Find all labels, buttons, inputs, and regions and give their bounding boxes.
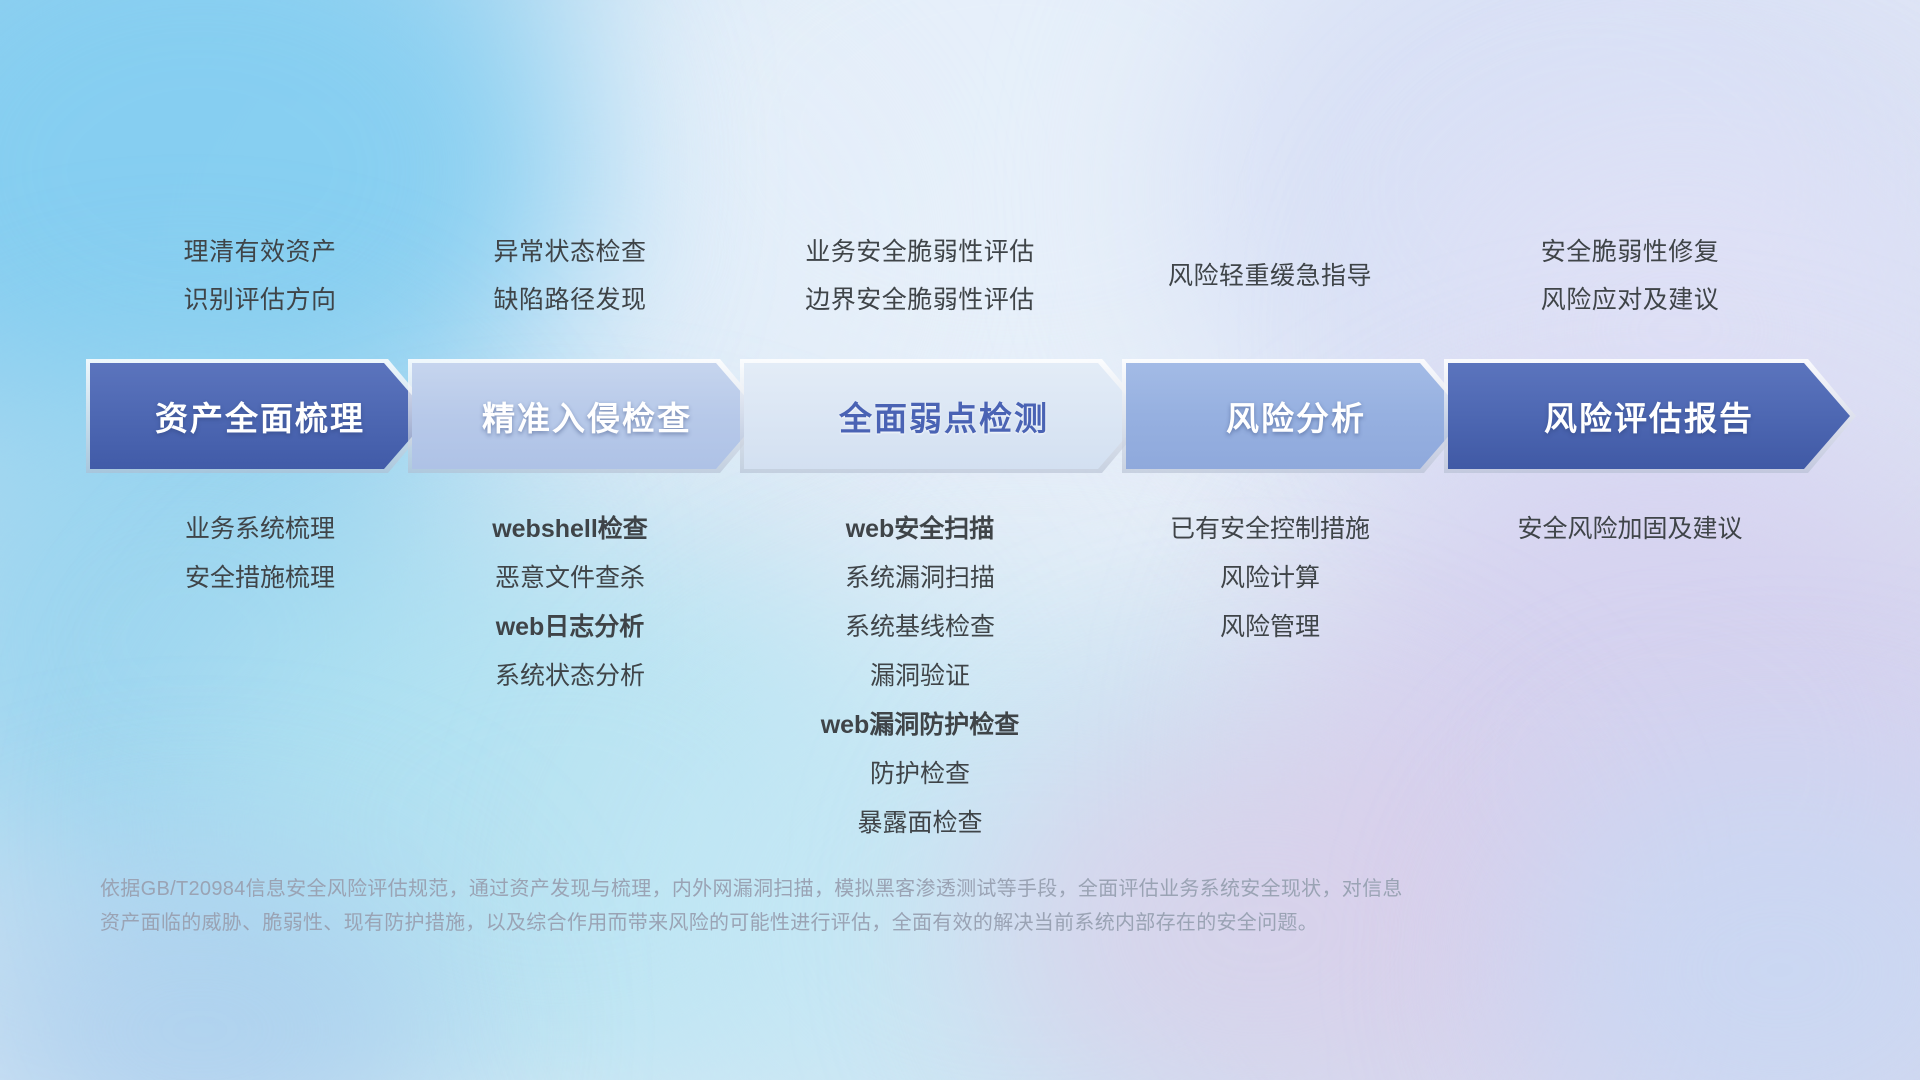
bottom-caption-line: 业务系统梳理 — [90, 505, 430, 554]
stage-chevron-1[interactable]: 资产全面梳理 — [90, 363, 430, 469]
footer-line-1: 依据GB/T20984信息安全风险评估规范，通过资产发现与梳理，内外网漏洞扫描，… — [100, 872, 1620, 906]
stage-chevron-label: 资产全面梳理 — [155, 392, 365, 440]
top-caption-line: 安全脆弱性修复 — [1410, 228, 1850, 276]
top-caption-row: 理清有效资产 识别评估方向 异常状态检查 缺陷路径发现 业务安全脆弱性评估 边界… — [0, 228, 1920, 348]
bottom-caption-stage-5: 安全风险加固及建议 — [1410, 505, 1850, 554]
footer-line-2: 资产面临的威胁、脆弱性、现有防护措施，以及综合作用而带来风险的可能性进行评估，全… — [100, 906, 1620, 940]
process-diagram: 理清有效资产 识别评估方向 异常状态检查 缺陷路径发现 业务安全脆弱性评估 边界… — [0, 0, 1920, 1080]
bottom-caption-line: 暴露面检查 — [700, 799, 1140, 848]
top-caption-stage-2: 异常状态检查 缺陷路径发现 — [400, 228, 740, 324]
bottom-caption-line: 恶意文件查杀 — [400, 554, 740, 603]
bottom-caption-line: webshell检查 — [400, 505, 740, 554]
bottom-caption-line: web日志分析 — [400, 603, 740, 652]
stage-chevron-label: 全面弱点检测 — [839, 392, 1049, 440]
top-caption-line: 理清有效资产 — [90, 228, 430, 276]
bottom-caption-line: 安全措施梳理 — [90, 554, 430, 603]
stage-chevron-label: 精准入侵检查 — [482, 392, 692, 440]
stage-chevron-3[interactable]: 全面弱点检测 — [744, 363, 1144, 469]
stage-chevron-label: 风险分析 — [1226, 392, 1366, 440]
top-caption-line: 异常状态检查 — [400, 228, 740, 276]
bottom-caption-line: 安全风险加固及建议 — [1410, 505, 1850, 554]
top-caption-line: 识别评估方向 — [90, 276, 430, 324]
stage-chevron-4[interactable]: 风险分析 — [1126, 363, 1466, 469]
bottom-caption-line: 系统状态分析 — [400, 652, 740, 701]
bottom-caption-line: 风险管理 — [1070, 603, 1470, 652]
top-caption-line: 风险应对及建议 — [1410, 276, 1850, 324]
bottom-caption-stage-2: webshell检查 恶意文件查杀 web日志分析 系统状态分析 — [400, 505, 740, 701]
bottom-caption-line: web漏洞防护检查 — [700, 701, 1140, 750]
stage-chevron-label: 风险评估报告 — [1544, 392, 1754, 440]
stage-chevron-5[interactable]: 风险评估报告 — [1448, 363, 1850, 469]
bottom-caption-line: 漏洞验证 — [700, 652, 1140, 701]
stage-chevron-2[interactable]: 精准入侵检查 — [412, 363, 762, 469]
top-caption-line: 缺陷路径发现 — [400, 276, 740, 324]
stage-chevron-band: 资产全面梳理 精准入侵检查 全面弱点检测 风险分析 风险评估报告 — [90, 363, 1850, 469]
top-caption-stage-1: 理清有效资产 识别评估方向 — [90, 228, 430, 324]
bottom-caption-line: 防护检查 — [700, 750, 1140, 799]
bottom-caption-stage-1: 业务系统梳理 安全措施梳理 — [90, 505, 430, 603]
top-caption-stage-5: 安全脆弱性修复 风险应对及建议 — [1410, 228, 1850, 324]
footer-description: 依据GB/T20984信息安全风险评估规范，通过资产发现与梳理，内外网漏洞扫描，… — [100, 872, 1620, 940]
bottom-caption-line: 风险计算 — [1070, 554, 1470, 603]
